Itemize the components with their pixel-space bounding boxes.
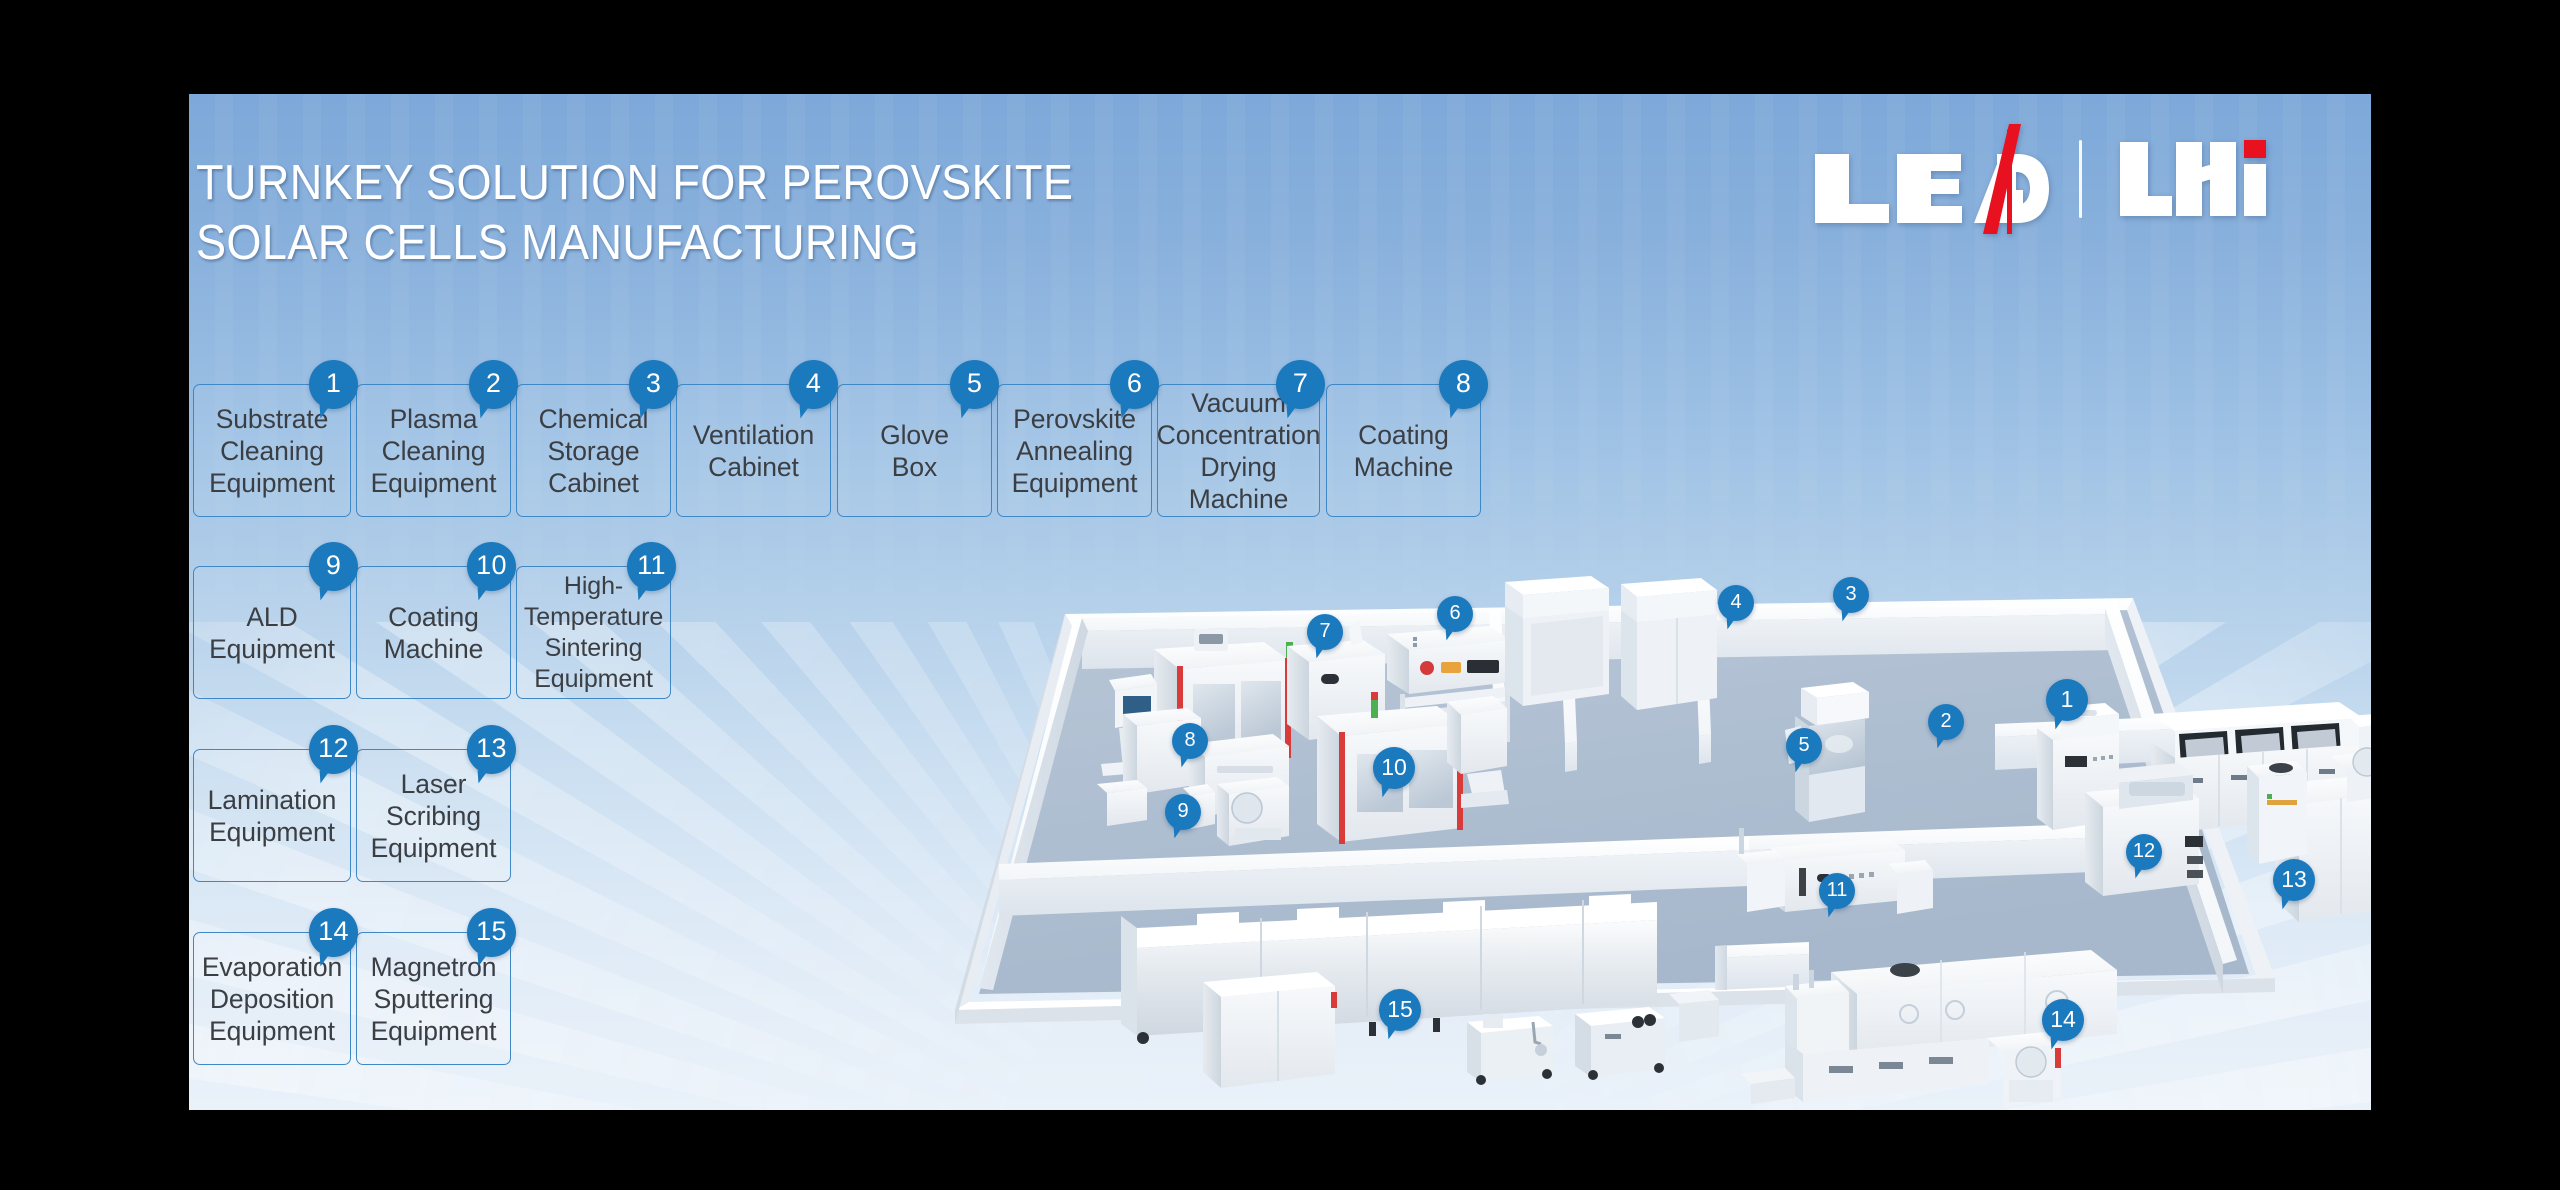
legend-card-label: Glove Box bbox=[872, 419, 957, 483]
badge-number: 1 bbox=[326, 370, 341, 397]
legend-badge-7: 7 bbox=[1276, 360, 1325, 409]
floorplan-marker-11[interactable]: 11 bbox=[1819, 873, 1855, 909]
legend-badge-4: 4 bbox=[789, 360, 838, 409]
legend-card-label: Coating Machine bbox=[1346, 419, 1461, 483]
floorplan-marker-8[interactable]: 8 bbox=[1172, 723, 1208, 759]
legend-badge-12: 12 bbox=[309, 725, 358, 774]
badge-number: 3 bbox=[646, 370, 661, 397]
legend-card-4[interactable]: 4 Ventilation Cabinet bbox=[676, 384, 831, 517]
floorplan-marker-15[interactable]: 15 bbox=[1379, 989, 1421, 1031]
floorplan-marker-6[interactable]: 6 bbox=[1437, 596, 1473, 632]
floorplan-marker-13[interactable]: 13 bbox=[2273, 859, 2315, 901]
legend-card-1[interactable]: 1 Substrate Cleaning Equipment bbox=[193, 384, 351, 517]
badge-number: 12 bbox=[318, 735, 349, 762]
marker-label: 9 bbox=[1177, 801, 1188, 821]
marker-label: 4 bbox=[1730, 592, 1741, 612]
legend-badge-15: 15 bbox=[467, 908, 516, 957]
logo-divider bbox=[2079, 140, 2082, 218]
legend-card-14[interactable]: 14 Evaporation Deposition Equipment bbox=[193, 932, 351, 1065]
legend-badge-10: 10 bbox=[467, 542, 516, 591]
marker-label: 6 bbox=[1449, 603, 1460, 623]
marker-label: 3 bbox=[1845, 584, 1856, 604]
slide-panel: TURNKEY SOLUTION FOR PEROVSKITE SOLAR CE… bbox=[189, 94, 2371, 1110]
marker-label: 2 bbox=[1940, 711, 1951, 731]
badge-number: 2 bbox=[486, 370, 501, 397]
floorplan-marker-7[interactable]: 7 bbox=[1307, 614, 1343, 650]
badge-number: 10 bbox=[476, 552, 507, 579]
legend-badge-2: 2 bbox=[469, 360, 518, 409]
legend-card-12[interactable]: 12 Lamination Equipment bbox=[193, 749, 351, 882]
floorplan-marker-9[interactable]: 9 bbox=[1165, 794, 1201, 830]
marker-label: 14 bbox=[2050, 1008, 2076, 1031]
floorplan-marker-12[interactable]: 12 bbox=[2126, 834, 2162, 870]
marker-label: 5 bbox=[1798, 735, 1809, 755]
legend-badge-11: 11 bbox=[627, 542, 676, 591]
badge-number: 15 bbox=[476, 918, 507, 945]
marker-label: 1 bbox=[2061, 688, 2074, 711]
legend-card-11[interactable]: 11 High-Temperature Sintering Equipment bbox=[516, 566, 671, 699]
floorplan-marker-4[interactable]: 4 bbox=[1718, 585, 1754, 621]
legend-card-13[interactable]: 13 Laser Scribing Equipment bbox=[356, 749, 511, 882]
legend-badge-13: 13 bbox=[467, 725, 516, 774]
marker-label: 13 bbox=[2281, 868, 2307, 891]
floorplan-marker-5[interactable]: 5 bbox=[1786, 728, 1822, 764]
marker-label: 7 bbox=[1319, 621, 1330, 641]
badge-number: 9 bbox=[326, 552, 341, 579]
badge-number: 11 bbox=[637, 552, 666, 579]
badge-number: 5 bbox=[967, 370, 982, 397]
floorplan-marker-14[interactable]: 14 bbox=[2042, 999, 2084, 1041]
floorplan-marker-10[interactable]: 10 bbox=[1373, 747, 1415, 789]
legend-card-10[interactable]: 10 Coating Machine bbox=[356, 566, 511, 699]
badge-number: 6 bbox=[1127, 370, 1142, 397]
legend-card-3[interactable]: 3 Chemical Storage Cabinet bbox=[516, 384, 671, 517]
legend-badge-6: 6 bbox=[1110, 360, 1159, 409]
legend-card-label: Chemical Storage Cabinet bbox=[531, 403, 657, 499]
legend-card-9[interactable]: 9 ALD Equipment bbox=[193, 566, 351, 699]
badge-number: 13 bbox=[476, 735, 507, 762]
legend-badge-9: 9 bbox=[309, 542, 358, 591]
floorplan-marker-1[interactable]: 1 bbox=[2046, 679, 2088, 721]
legend-card-15[interactable]: 15 Magnetron Sputtering Equipment bbox=[356, 932, 511, 1065]
legend-badge-14: 14 bbox=[309, 908, 358, 957]
badge-number: 7 bbox=[1293, 370, 1308, 397]
legend-card-2[interactable]: 2 Plasma Cleaning Equipment bbox=[356, 384, 511, 517]
legend-badge-5: 5 bbox=[950, 360, 999, 409]
legend-badge-3: 3 bbox=[629, 360, 678, 409]
lhi-logo bbox=[2118, 136, 2268, 222]
lead-logo bbox=[1811, 124, 2049, 234]
page-title: TURNKEY SOLUTION FOR PEROVSKITE SOLAR CE… bbox=[196, 153, 1073, 273]
legend-card-8[interactable]: 8 Coating Machine bbox=[1326, 384, 1481, 517]
floorplan-marker-3[interactable]: 3 bbox=[1833, 577, 1869, 613]
badge-number: 4 bbox=[806, 370, 821, 397]
marker-label: 12 bbox=[2133, 841, 2155, 861]
legend-badge-8: 8 bbox=[1439, 360, 1488, 409]
badge-number: 8 bbox=[1456, 370, 1471, 397]
legend-card-5[interactable]: 5 Glove Box bbox=[837, 384, 992, 517]
legend-card-7[interactable]: 7 Vacuum Concentration Drying Machine bbox=[1157, 384, 1320, 517]
legend-card-6[interactable]: 6 Perovskite Annealing Equipment bbox=[997, 384, 1152, 517]
marker-label: 10 bbox=[1381, 756, 1407, 779]
legend-card-label: Lamination Equipment bbox=[200, 784, 345, 848]
floorplan-marker-2[interactable]: 2 bbox=[1928, 704, 1964, 740]
logo-group bbox=[1811, 114, 2268, 244]
marker-label: 8 bbox=[1184, 730, 1195, 750]
legend-card-label: ALD Equipment bbox=[201, 601, 343, 665]
legend-badge-1: 1 bbox=[309, 360, 358, 409]
legend-card-label: Coating Machine bbox=[376, 601, 491, 665]
marker-label: 11 bbox=[1827, 880, 1848, 900]
badge-number: 14 bbox=[318, 918, 349, 945]
marker-label: 15 bbox=[1387, 998, 1413, 1021]
legend-card-label: Ventilation Cabinet bbox=[685, 419, 822, 483]
